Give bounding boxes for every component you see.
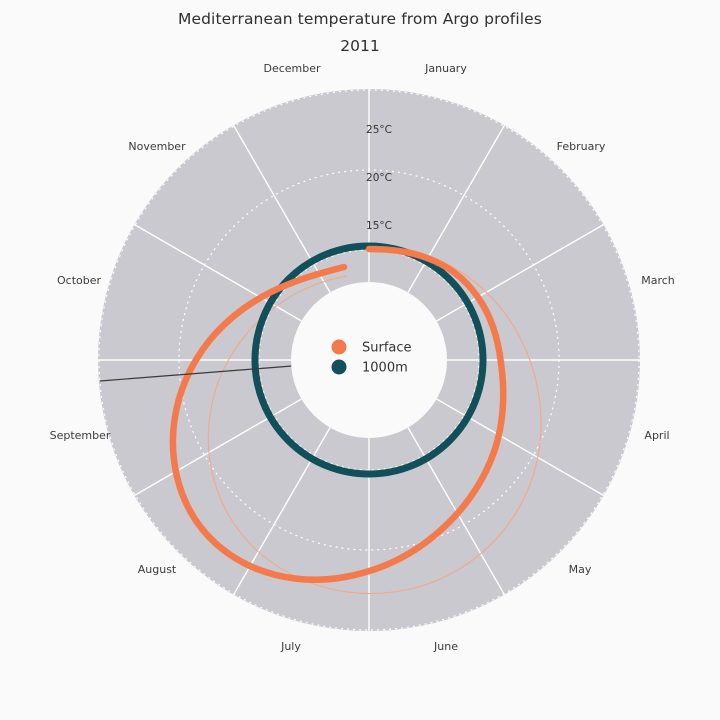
month-label-may[interactable]: May [569,563,592,576]
month-label-april[interactable]: April [644,429,669,442]
r-tick-label-25: 25°C [366,124,392,136]
legend-swatch-surface[interactable] [332,340,347,355]
r-tick-label-20: 20°C [366,172,392,184]
month-label-august[interactable]: August [138,563,177,576]
legend-swatch-1000m[interactable] [332,360,347,375]
month-label-february[interactable]: February [557,140,606,153]
month-label-november[interactable]: November [128,140,186,153]
legend-label-1000m[interactable]: 1000m [362,361,408,376]
month-label-july[interactable]: July [280,640,301,653]
legend-label-surface[interactable]: Surface [362,341,412,356]
r-tick-label-15: 15°C [366,220,392,232]
month-label-december[interactable]: December [263,62,321,75]
chart-root: Mediterranean temperature from Argo prof… [0,0,720,720]
polar-chart[interactable]: 25°C 20°C 15°C January February March Ap… [0,0,720,720]
month-label-september[interactable]: September [50,429,111,442]
month-label-june[interactable]: June [433,640,458,653]
month-label-october[interactable]: October [57,274,101,287]
month-label-january[interactable]: January [424,62,467,75]
month-label-march[interactable]: March [641,274,675,287]
